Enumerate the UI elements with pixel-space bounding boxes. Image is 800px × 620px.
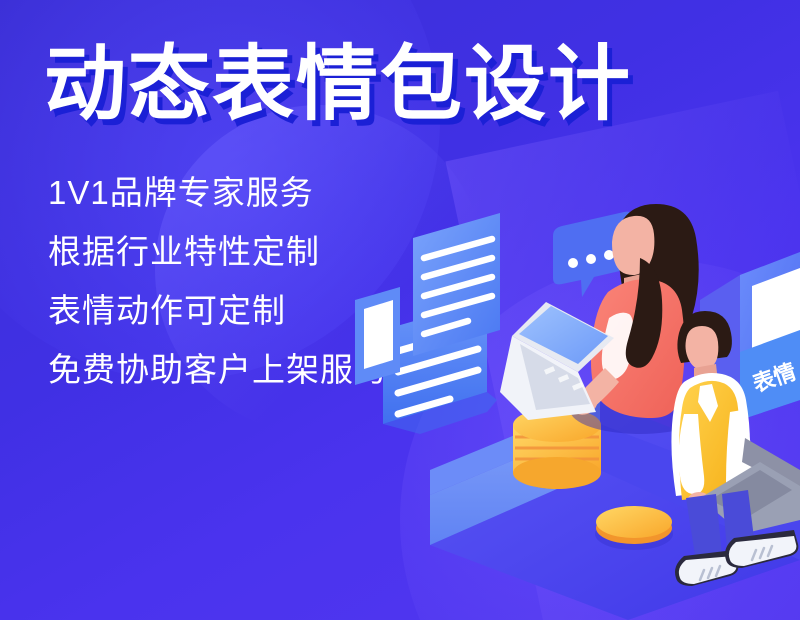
right-emoji-panel: 表情 [700, 252, 800, 440]
boy-character [671, 311, 800, 586]
sneakers [675, 530, 798, 586]
feature-item: 根据行业特性定制 [48, 235, 388, 268]
feature-item: 1V1品牌专家服务 [48, 176, 388, 209]
emoji-card-label: 表情 [749, 359, 799, 397]
banner-title: 动态表情包设计 [44, 44, 632, 126]
background-glow-bottom-right [400, 260, 800, 620]
feature-item: 表情动作可定制 [48, 294, 388, 327]
promo-banner: 动态表情包设计 1V1品牌专家服务 根据行业特性定制 表情动作可定制 免费协助客… [0, 0, 800, 620]
laptop-boy [700, 438, 800, 534]
isometric-platform [430, 400, 800, 620]
single-coin [595, 506, 673, 550]
background-diagonal-band [445, 91, 800, 620]
feature-list: 1V1品牌专家服务 根据行业特性定制 表情动作可定制 免费协助客户上架服务 [48, 176, 388, 386]
laptop-woman [500, 302, 614, 420]
coin-stack [513, 408, 601, 489]
woman-character [500, 204, 710, 434]
speech-bubble-icon [553, 212, 633, 297]
feature-item: 免费协助客户上架服务 [48, 353, 388, 386]
